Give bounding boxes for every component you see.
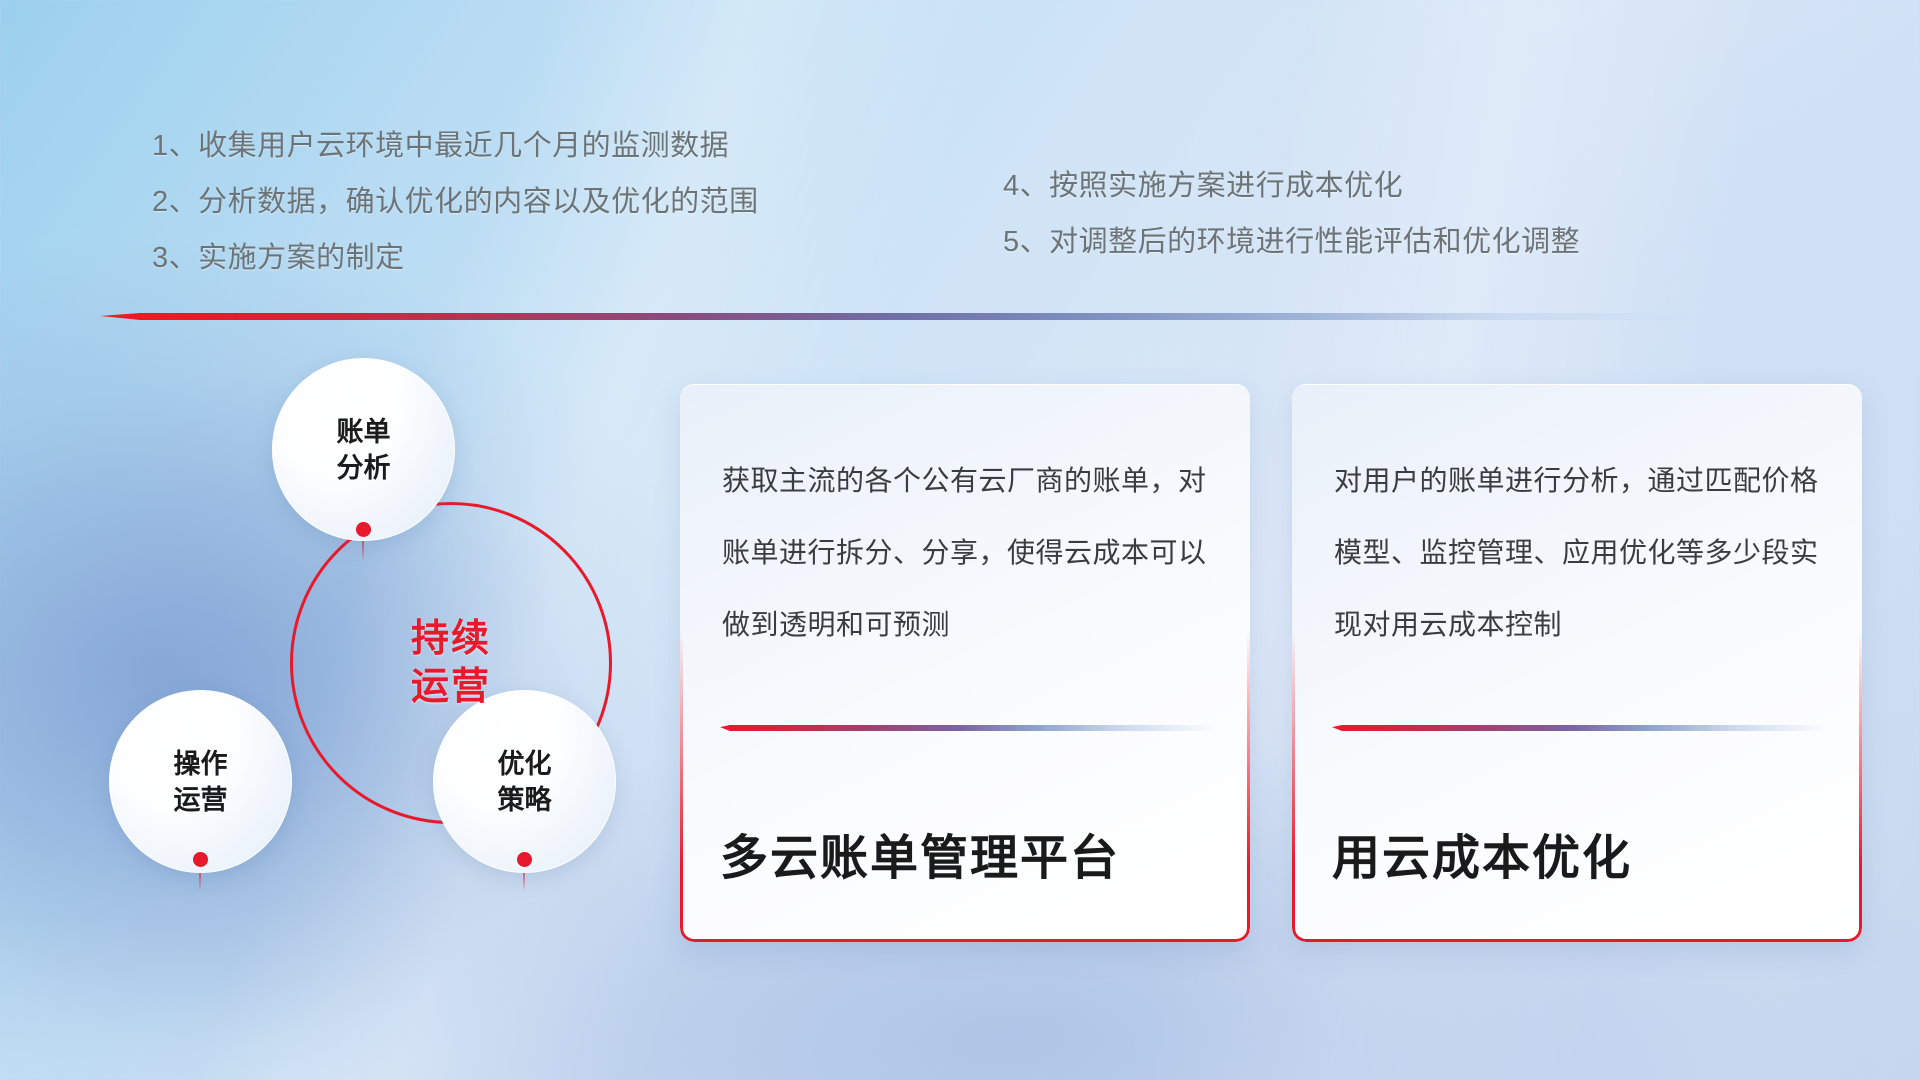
card-divider xyxy=(1332,725,1828,731)
bubble-line-2: 运营 xyxy=(174,782,228,818)
center-label-line-1: 持续 xyxy=(411,615,491,663)
card-divider xyxy=(720,725,1216,731)
info-card-multicloud-billing[interactable]: 获取主流的各个公有云厂商的账单，对账单进行拆分、分享，使得云成本可以做到透明和可… xyxy=(680,384,1250,942)
step-text: 分析数据，确认优化的内容以及优化的范围 xyxy=(198,174,759,230)
steps-list-right: 4、 按照实施方案进行成本优化 5、 对调整后的环境进行性能评估和优化调整 xyxy=(1003,158,1580,270)
diagram-bubble-optimization-strategy[interactable]: 优化 策略 xyxy=(433,690,616,873)
diagram-node-dot xyxy=(356,522,371,537)
diagram-center-label: 持续 运营 xyxy=(411,615,491,711)
info-card-cloud-cost-optimization[interactable]: 对用户的账单进行分析，通过匹配价格模型、监控管理、应用优化等多少段实现对用云成本… xyxy=(1292,384,1862,942)
center-label-line-2: 运营 xyxy=(411,663,491,711)
diagram-bubble-operations[interactable]: 操作 运营 xyxy=(109,690,292,873)
card-title: 多云账单管理平台 xyxy=(720,818,1220,888)
diagram-bubble-billing-analysis[interactable]: 账单 分析 xyxy=(272,358,455,541)
step-number: 2、 xyxy=(152,174,198,230)
step-text: 按照实施方案进行成本优化 xyxy=(1049,158,1403,214)
step-number: 1、 xyxy=(152,118,198,174)
steps-list-left: 1、 收集用户云环境中最近几个月的监测数据 2、 分析数据，确认优化的内容以及优… xyxy=(152,118,759,286)
bubble-line-1: 账单 xyxy=(337,414,391,450)
step-item: 5、 对调整后的环境进行性能评估和优化调整 xyxy=(1003,214,1580,270)
step-text: 收集用户云环境中最近几个月的监测数据 xyxy=(198,118,729,174)
card-title: 用云成本优化 xyxy=(1332,818,1832,888)
step-item: 3、 实施方案的制定 xyxy=(152,230,759,286)
diagram-node-dot xyxy=(517,852,532,867)
bubble-line-2: 策略 xyxy=(498,782,552,818)
bubble-line-1: 操作 xyxy=(174,746,228,782)
step-number: 5、 xyxy=(1003,214,1049,270)
step-number: 3、 xyxy=(152,230,198,286)
step-item: 4、 按照实施方案进行成本优化 xyxy=(1003,158,1580,214)
step-number: 4、 xyxy=(1003,158,1049,214)
step-text: 实施方案的制定 xyxy=(198,230,405,286)
bubble-line-2: 分析 xyxy=(337,450,391,486)
step-item: 1、 收集用户云环境中最近几个月的监测数据 xyxy=(152,118,759,174)
card-description: 对用户的账单进行分析，通过匹配价格模型、监控管理、应用优化等多少段实现对用云成本… xyxy=(1334,445,1828,661)
card-description: 获取主流的各个公有云厂商的账单，对账单进行拆分、分享，使得云成本可以做到透明和可… xyxy=(722,445,1216,661)
bubble-line-1: 优化 xyxy=(498,746,552,782)
cycle-diagram: 账单 分析 操作 运营 优化 策略 持续 运营 xyxy=(96,352,656,952)
step-text: 对调整后的环境进行性能评估和优化调整 xyxy=(1049,214,1580,270)
diagram-node-dot xyxy=(193,852,208,867)
section-divider xyxy=(100,313,1696,320)
step-item: 2、 分析数据，确认优化的内容以及优化的范围 xyxy=(152,174,759,230)
